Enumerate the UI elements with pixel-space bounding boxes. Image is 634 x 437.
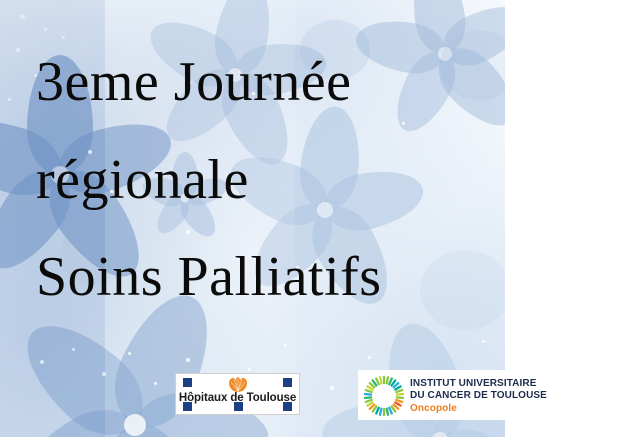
logo-iuct-line-1: INSTITUT UNIVERSITAIRE xyxy=(410,378,547,390)
logo-iuct-label: INSTITUT UNIVERSITAIRE DU CANCER DE TOUL… xyxy=(410,378,547,415)
logo-iuct-line-3: Oncopole xyxy=(410,402,547,415)
logo-corner-square xyxy=(283,378,292,387)
title-line-2: régionale xyxy=(36,150,596,212)
background-speck xyxy=(368,356,371,359)
logo-row: Hôpitaux de Toulouse xyxy=(0,370,634,422)
page-title: 3eme Journée régionale Soins Palliatifs xyxy=(36,52,596,309)
logo-iuct-line-2: DU CANCER DE TOULOUSE xyxy=(410,390,547,402)
scallop-shell-icon xyxy=(228,377,248,392)
title-line-1: 3eme Journée xyxy=(36,52,596,114)
logo-iuct-oncopole: INSTITUT UNIVERSITAIRE DU CANCER DE TOUL… xyxy=(358,370,538,420)
title-line-3: Soins Palliatifs xyxy=(36,247,596,309)
sunburst-circle-icon xyxy=(362,374,406,418)
logo-corner-square xyxy=(183,378,192,387)
logo-hopitaux-de-toulouse: Hôpitaux de Toulouse xyxy=(175,373,300,415)
logo-hopitaux-label: Hôpitaux de Toulouse xyxy=(176,392,299,404)
presentation-slide: 3eme Journée régionale Soins Palliatifs xyxy=(0,0,634,437)
background-speck xyxy=(482,340,485,343)
